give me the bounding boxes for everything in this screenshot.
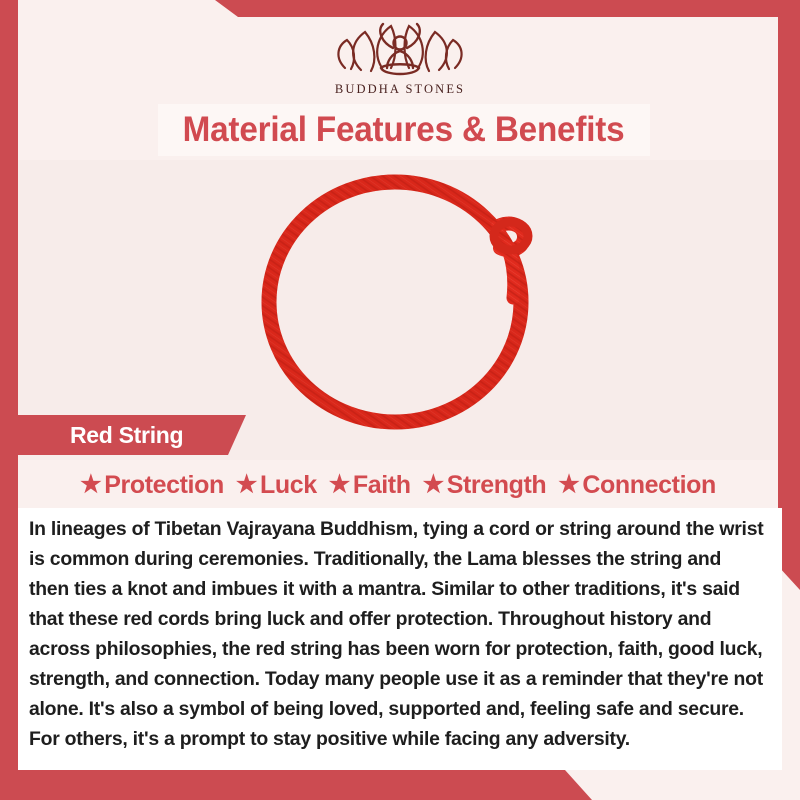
material-ribbon: Red String (18, 415, 246, 455)
title-banner: Material Features & Benefits (158, 104, 650, 156)
description-panel: In lineages of Tibetan Vajrayana Buddhis… (18, 508, 782, 770)
benefit-item-strength: ★ Strength (419, 471, 551, 500)
star-icon: ★ (558, 473, 579, 497)
page-title: Material Features & Benefits (183, 110, 625, 150)
star-icon: ★ (80, 473, 101, 497)
decor-left-strip (0, 0, 18, 800)
infographic-card: BUDDHA STONES Material Features & Benefi… (0, 0, 800, 800)
benefit-label: Luck (260, 471, 317, 500)
benefit-item-protection: ★ Protection (76, 471, 228, 500)
brand-logo: BUDDHA STONES (0, 18, 800, 100)
brand-name: BUDDHA STONES (335, 82, 465, 97)
description-text: In lineages of Tibetan Vajrayana Buddhis… (18, 508, 782, 754)
material-name: Red String (70, 422, 183, 449)
red-string-bracelet-image (255, 168, 545, 438)
decor-top-bar (0, 0, 800, 17)
star-icon: ★ (329, 473, 350, 497)
benefit-label: Protection (104, 471, 224, 500)
benefits-list: ★ Protection ★ Luck ★ Faith ★ Strength ★… (18, 466, 778, 504)
benefit-item-faith: ★ Faith (325, 471, 415, 500)
lotus-meditation-icon (325, 18, 475, 80)
star-icon: ★ (236, 473, 257, 497)
benefit-label: Strength (447, 471, 547, 500)
benefit-item-connection: ★ Connection (554, 471, 720, 500)
decor-bottom-bar (0, 770, 800, 800)
star-icon: ★ (423, 473, 444, 497)
benefit-item-luck: ★ Luck (232, 471, 321, 500)
benefit-label: Faith (353, 471, 411, 500)
benefit-label: Connection (582, 471, 716, 500)
